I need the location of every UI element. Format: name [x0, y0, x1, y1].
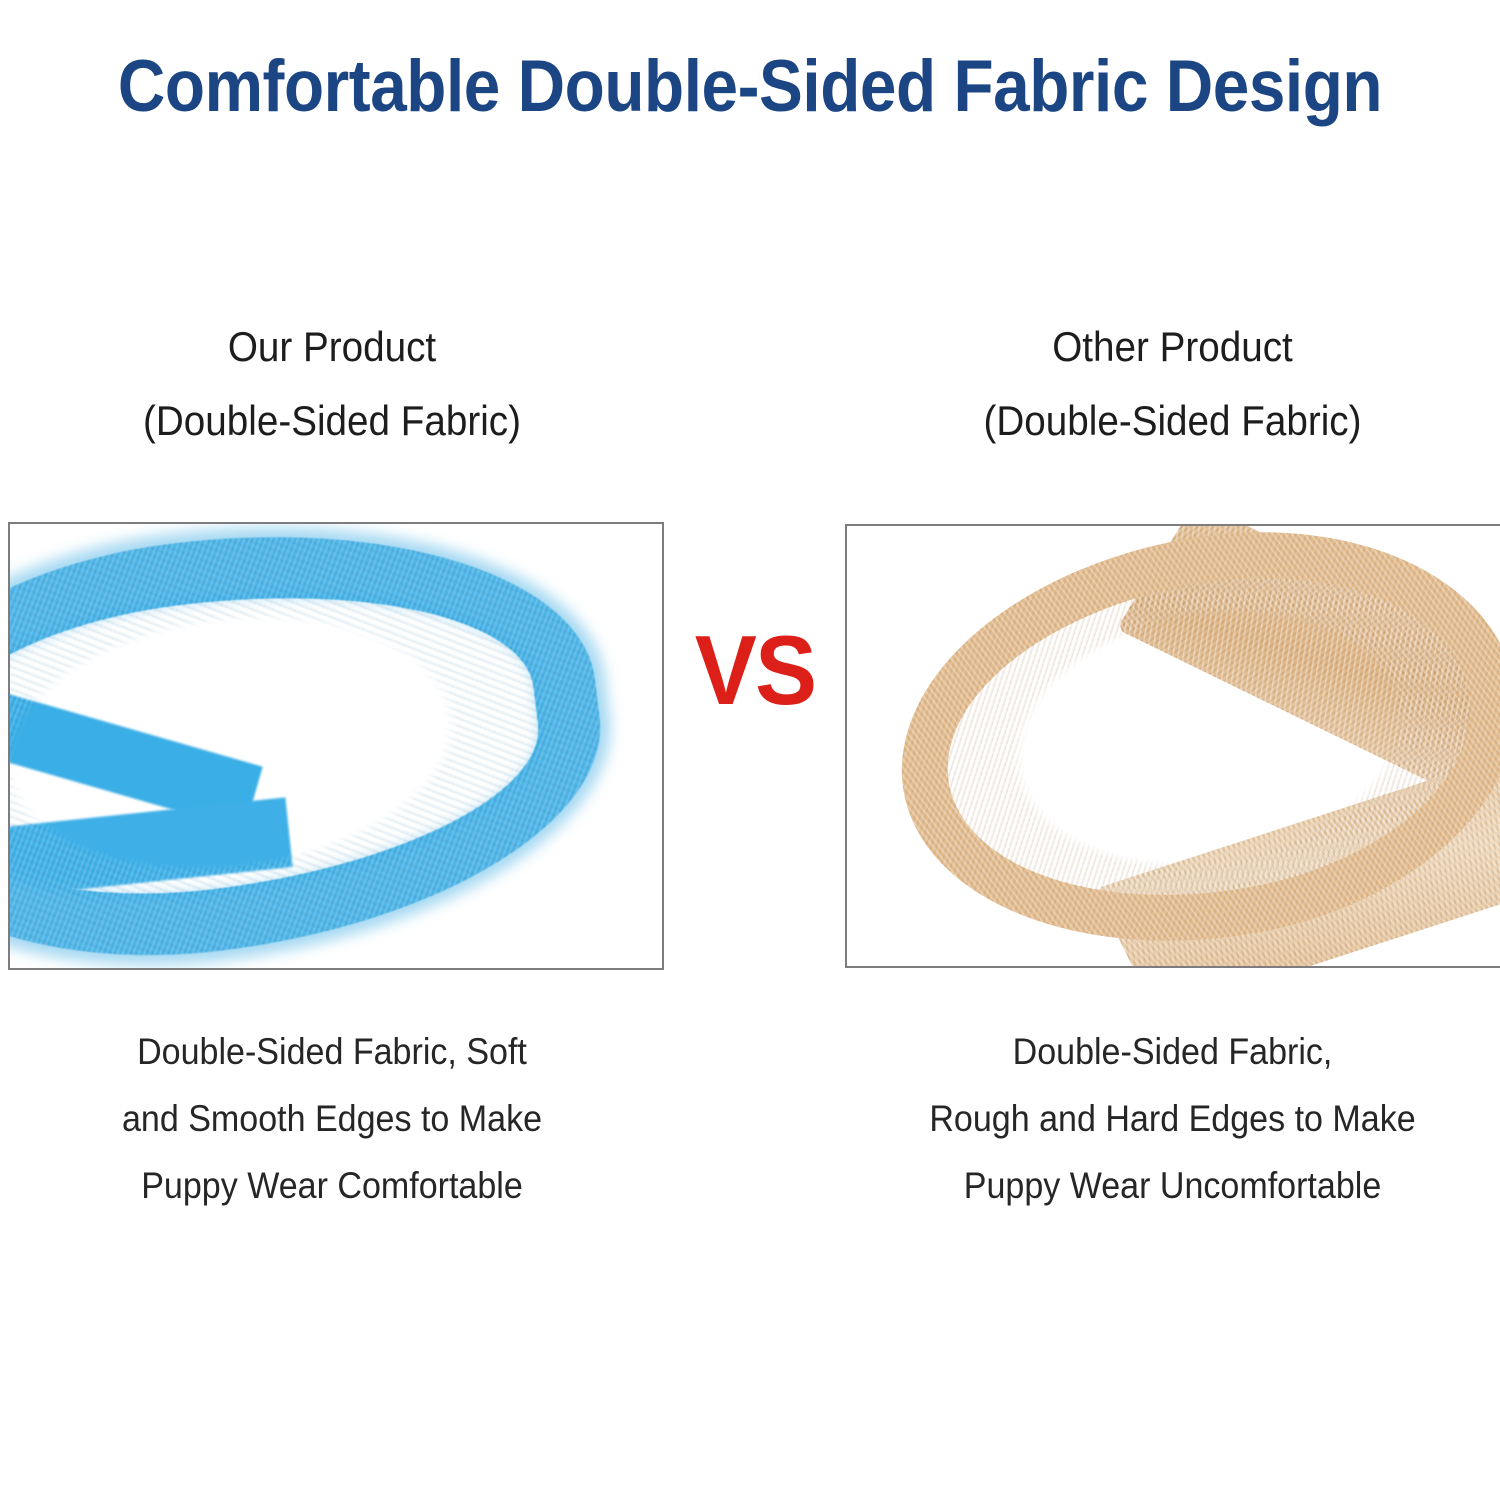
caption-line1: Double-Sided Fabric, — [871, 1018, 1474, 1085]
blue-strap-loop — [10, 524, 622, 968]
caption-our-product: Double-Sided Fabric, Soft and Smooth Edg… — [27, 1018, 638, 1219]
column-heading-our-product: Our Product (Double-Sided Fabric) — [27, 310, 638, 458]
product-image-panel-other-product — [845, 524, 1500, 968]
caption-line1: Double-Sided Fabric, Soft — [27, 1018, 638, 1085]
column-heading-line1: Other Product — [871, 310, 1474, 384]
product-comparison-infographic: Comfortable Double-Sided Fabric Design O… — [0, 0, 1500, 1500]
fabric-photo-blue-strap — [10, 524, 662, 968]
fabric-photo-tan-strap — [847, 526, 1500, 966]
column-heading-line2: (Double-Sided Fabric) — [27, 384, 638, 458]
caption-line3: Puppy Wear Uncomfortable — [871, 1152, 1474, 1219]
caption-line2: and Smooth Edges to Make — [27, 1085, 638, 1152]
product-image-panel-our-product — [8, 522, 664, 970]
column-heading-line1: Our Product — [27, 310, 638, 384]
caption-other-product: Double-Sided Fabric, Rough and Hard Edge… — [871, 1018, 1474, 1219]
page-title: Comfortable Double-Sided Fabric Design — [75, 44, 1425, 130]
vs-label: VS — [693, 618, 817, 722]
caption-line3: Puppy Wear Comfortable — [27, 1152, 638, 1219]
column-heading-line2: (Double-Sided Fabric) — [871, 384, 1474, 458]
caption-line2: Rough and Hard Edges to Make — [871, 1085, 1474, 1152]
column-heading-other-product: Other Product (Double-Sided Fabric) — [871, 310, 1474, 458]
